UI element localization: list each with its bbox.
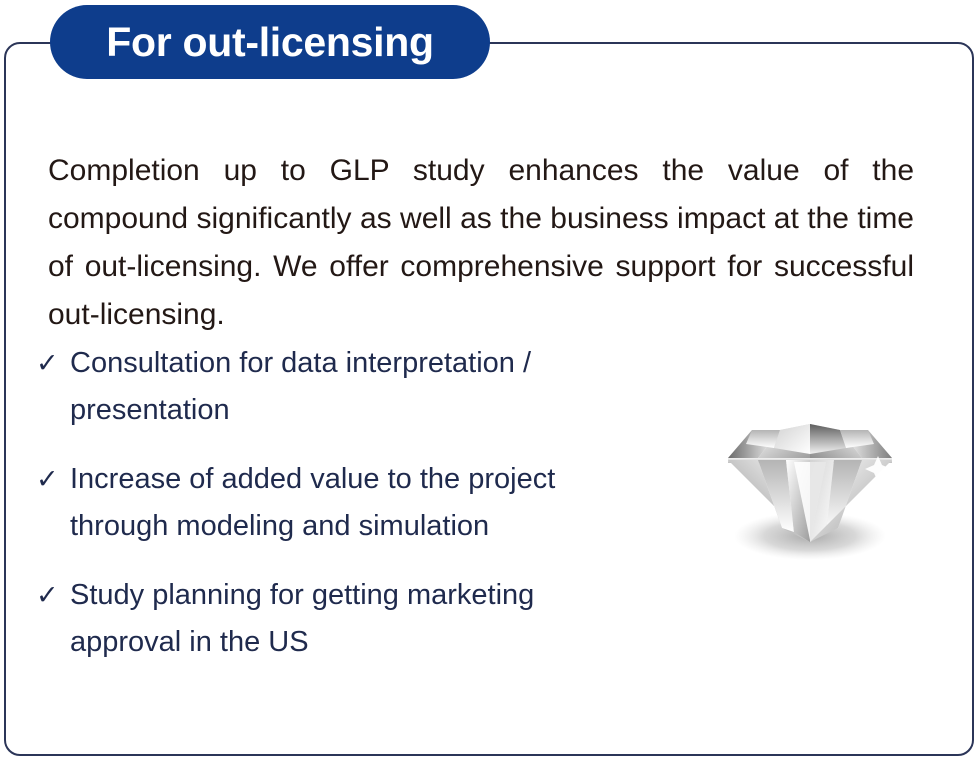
card-title-badge: For out-licensing [50, 5, 490, 79]
intro-paragraph: Completion up to GLP study enhances the … [48, 147, 914, 339]
list-item: ✓ Study planning for getting marketing a… [32, 572, 692, 666]
list-item-label: Increase of added value to the project t… [70, 456, 692, 550]
page-title: For out-licensing [106, 22, 433, 63]
card-content: Completion up to GLP study enhances the … [0, 42, 980, 764]
check-icon: ✓ [32, 572, 70, 619]
diamond-icon [722, 410, 898, 560]
list-item-label: Consultation for data interpretation / p… [70, 340, 692, 434]
list-item: ✓ Increase of added value to the project… [32, 456, 692, 550]
check-icon: ✓ [32, 456, 70, 503]
check-icon: ✓ [32, 340, 70, 387]
list-item-label: Study planning for getting marketing app… [70, 572, 692, 666]
list-item: ✓ Consultation for data interpretation /… [32, 340, 692, 434]
benefits-list: ✓ Consultation for data interpretation /… [32, 340, 692, 666]
